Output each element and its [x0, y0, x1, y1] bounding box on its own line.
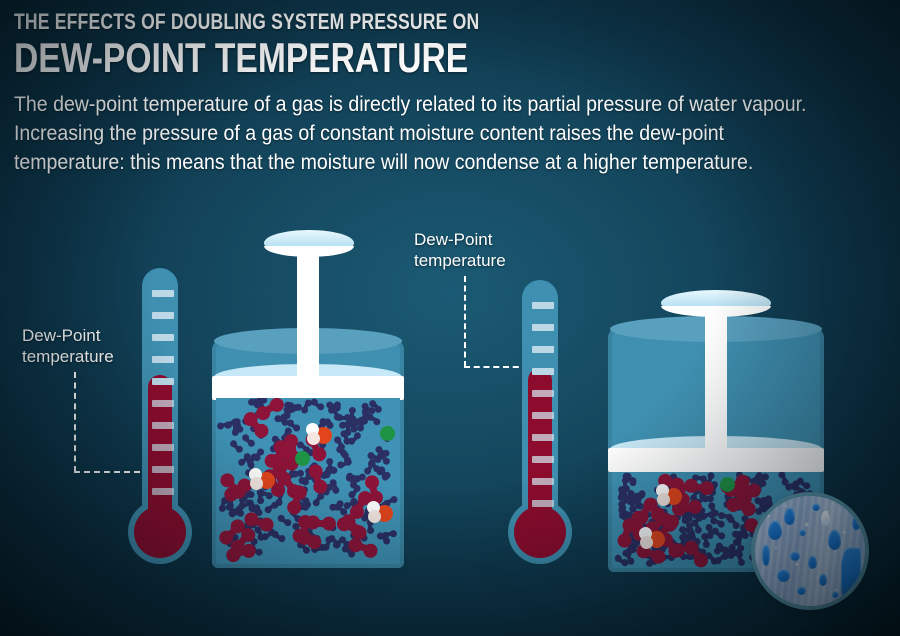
right-leader-line-vertical: [464, 276, 466, 367]
nitrogen-atom: [300, 406, 309, 415]
right-thermometer: [508, 280, 572, 564]
nitrogen-atom: [257, 497, 264, 504]
left-dewpoint-label-line1: Dew-Point: [22, 325, 114, 346]
water-molecule: [367, 501, 393, 523]
nitrogen-molecule: [735, 550, 746, 566]
left-thermometer-tick-9: [152, 466, 174, 473]
nitrogen-atom: [256, 489, 263, 496]
oxygen-atom: [684, 478, 700, 494]
header-block: THE EFFECTS OF DOUBLING SYSTEM PRESSURE …: [14, 10, 886, 80]
hydrogen-atom: [368, 510, 381, 523]
hydrogen-atom: [640, 536, 653, 549]
nitrogen-atom: [626, 556, 635, 565]
nitrogen-molecule: [334, 445, 349, 461]
water-molecule: [656, 484, 682, 506]
water-droplet: [828, 529, 841, 550]
left-thermometer-tick-6: [152, 400, 174, 407]
oxygen-molecule: [306, 514, 337, 530]
hydrogen-atom: [657, 493, 670, 506]
uncompressed-piston-handle-rim: [264, 246, 354, 257]
right-thermometer-mercury-bulb: [514, 506, 566, 558]
infographic-canvas: THE EFFECTS OF DOUBLING SYSTEM PRESSURE …: [0, 0, 900, 636]
water-droplet: [797, 586, 806, 595]
right-thermometer-tick-6: [532, 412, 554, 419]
right-thermometer-tick-4: [532, 368, 554, 375]
water-droplet: [762, 544, 770, 566]
right-dewpoint-label-line2: temperature: [414, 250, 506, 271]
oxygen-atom: [687, 499, 703, 515]
water-molecule: [306, 423, 332, 445]
nitrogen-molecule: [705, 524, 714, 540]
right-thermometer-tick-7: [532, 434, 554, 441]
right-thermometer-tick-3: [532, 346, 554, 353]
left-thermometer-tick-2: [152, 312, 174, 319]
nitrogen-atom: [737, 558, 746, 567]
nitrogen-molecule: [300, 398, 313, 415]
condensation-surface: [755, 496, 865, 606]
water-droplet: [841, 547, 861, 599]
water-droplet: [784, 507, 795, 525]
left-dewpoint-label: Dew-Point temperature: [22, 325, 114, 367]
nitrogen-atom: [235, 425, 244, 434]
uncompressed-piston-rod: [297, 248, 319, 380]
water-droplet: [852, 514, 861, 530]
oxygen-atom: [699, 480, 715, 496]
left-thermometer-tick-5: [152, 378, 174, 385]
right-dewpoint-label-line1: Dew-Point: [414, 229, 506, 250]
oxygen-atom: [322, 516, 337, 531]
right-dewpoint-label: Dew-Point temperature: [414, 229, 506, 271]
compressed-piston-handle-rim: [661, 306, 771, 317]
water-droplet: [799, 529, 806, 536]
nitrogen-atom: [292, 423, 302, 433]
water-molecule: [639, 527, 665, 549]
nitrogen-atom: [304, 501, 311, 508]
left-thermometer: [128, 268, 192, 564]
left-thermometer-tick-8: [152, 444, 174, 451]
nitrogen-atom: [706, 531, 714, 539]
nitrogen-atom: [728, 543, 736, 551]
left-thermometer-tick-3: [152, 334, 174, 341]
oxygen-atom: [307, 462, 324, 479]
water-droplet: [777, 569, 790, 582]
nitrogen-atom: [705, 524, 713, 532]
nitrogen-molecule: [381, 530, 397, 540]
right-thermometer-tick-8: [532, 456, 554, 463]
left-thermometer-tick-7: [152, 422, 174, 429]
left-thermometer-mercury-bulb: [134, 506, 186, 558]
kicker-text: THE EFFECTS OF DOUBLING SYSTEM PRESSURE …: [14, 10, 712, 34]
right-thermometer-tick-10: [532, 500, 554, 507]
nitrogen-molecule: [270, 529, 286, 543]
hydrogen-atom: [250, 477, 263, 490]
water-droplet: [821, 511, 830, 526]
nitrogen-molecule: [228, 439, 244, 454]
hydrogen-atom: [307, 432, 320, 445]
water-droplet: [790, 551, 800, 561]
nitrogen-atom: [234, 445, 244, 455]
right-thermometer-tick-2: [532, 324, 554, 331]
nitrogen-atom: [761, 472, 769, 480]
water-droplet: [808, 555, 817, 569]
oxygen-atom: [306, 514, 321, 529]
nitrogen-molecule: [777, 472, 790, 486]
nitrogen-atom: [753, 474, 761, 482]
nitrogen-atom: [332, 486, 341, 495]
left-dewpoint-label-line2: temperature: [22, 346, 114, 367]
nitrogen-atom: [353, 474, 362, 483]
trace-gas-molecule: [720, 477, 735, 492]
intro-paragraph: The dew-point temperature of a gas is di…: [14, 90, 825, 177]
nitrogen-molecule: [256, 489, 264, 504]
uncompressed-gas-region: [216, 398, 400, 564]
nitrogen-atom: [725, 513, 733, 521]
condensation-magnifier[interactable]: [755, 496, 865, 606]
water-droplet: [812, 503, 820, 511]
nitrogen-atom: [389, 530, 397, 538]
nitrogen-atom: [716, 519, 725, 528]
nitrogen-atom: [618, 493, 625, 500]
nitrogen-atom: [678, 525, 686, 533]
nitrogen-atom: [247, 438, 257, 448]
compressed-piston-rod: [705, 302, 727, 452]
oxygen-atom: [363, 473, 380, 490]
right-thermometer-tick-1: [532, 302, 554, 309]
nitrogen-atom: [275, 499, 283, 507]
oxygen-atom: [630, 511, 645, 526]
right-thermometer-tick-5: [532, 390, 554, 397]
left-leader-line-vertical: [74, 372, 76, 472]
left-thermometer-tick-4: [152, 356, 174, 363]
nitrogen-molecule: [618, 485, 626, 500]
water-droplet: [819, 573, 827, 586]
left-thermometer-tick-1: [152, 290, 174, 297]
water-droplet: [832, 591, 839, 598]
nitrogen-molecule: [241, 433, 257, 448]
nitrogen-atom: [714, 547, 722, 555]
right-thermometer-tick-9: [532, 478, 554, 485]
nitrogen-atom: [735, 550, 744, 559]
nitrogen-atom: [218, 504, 227, 513]
nitrogen-atom: [702, 540, 710, 548]
page-title: DEW-POINT TEMPERATURE: [14, 36, 712, 80]
nitrogen-atom: [618, 485, 625, 492]
left-thermometer-tick-10: [152, 488, 174, 495]
water-droplet: [768, 520, 782, 540]
oxygen-atom: [725, 497, 742, 514]
trace-gas-molecule: [380, 426, 395, 441]
nitrogen-atom: [349, 407, 356, 414]
water-molecule: [249, 468, 275, 490]
